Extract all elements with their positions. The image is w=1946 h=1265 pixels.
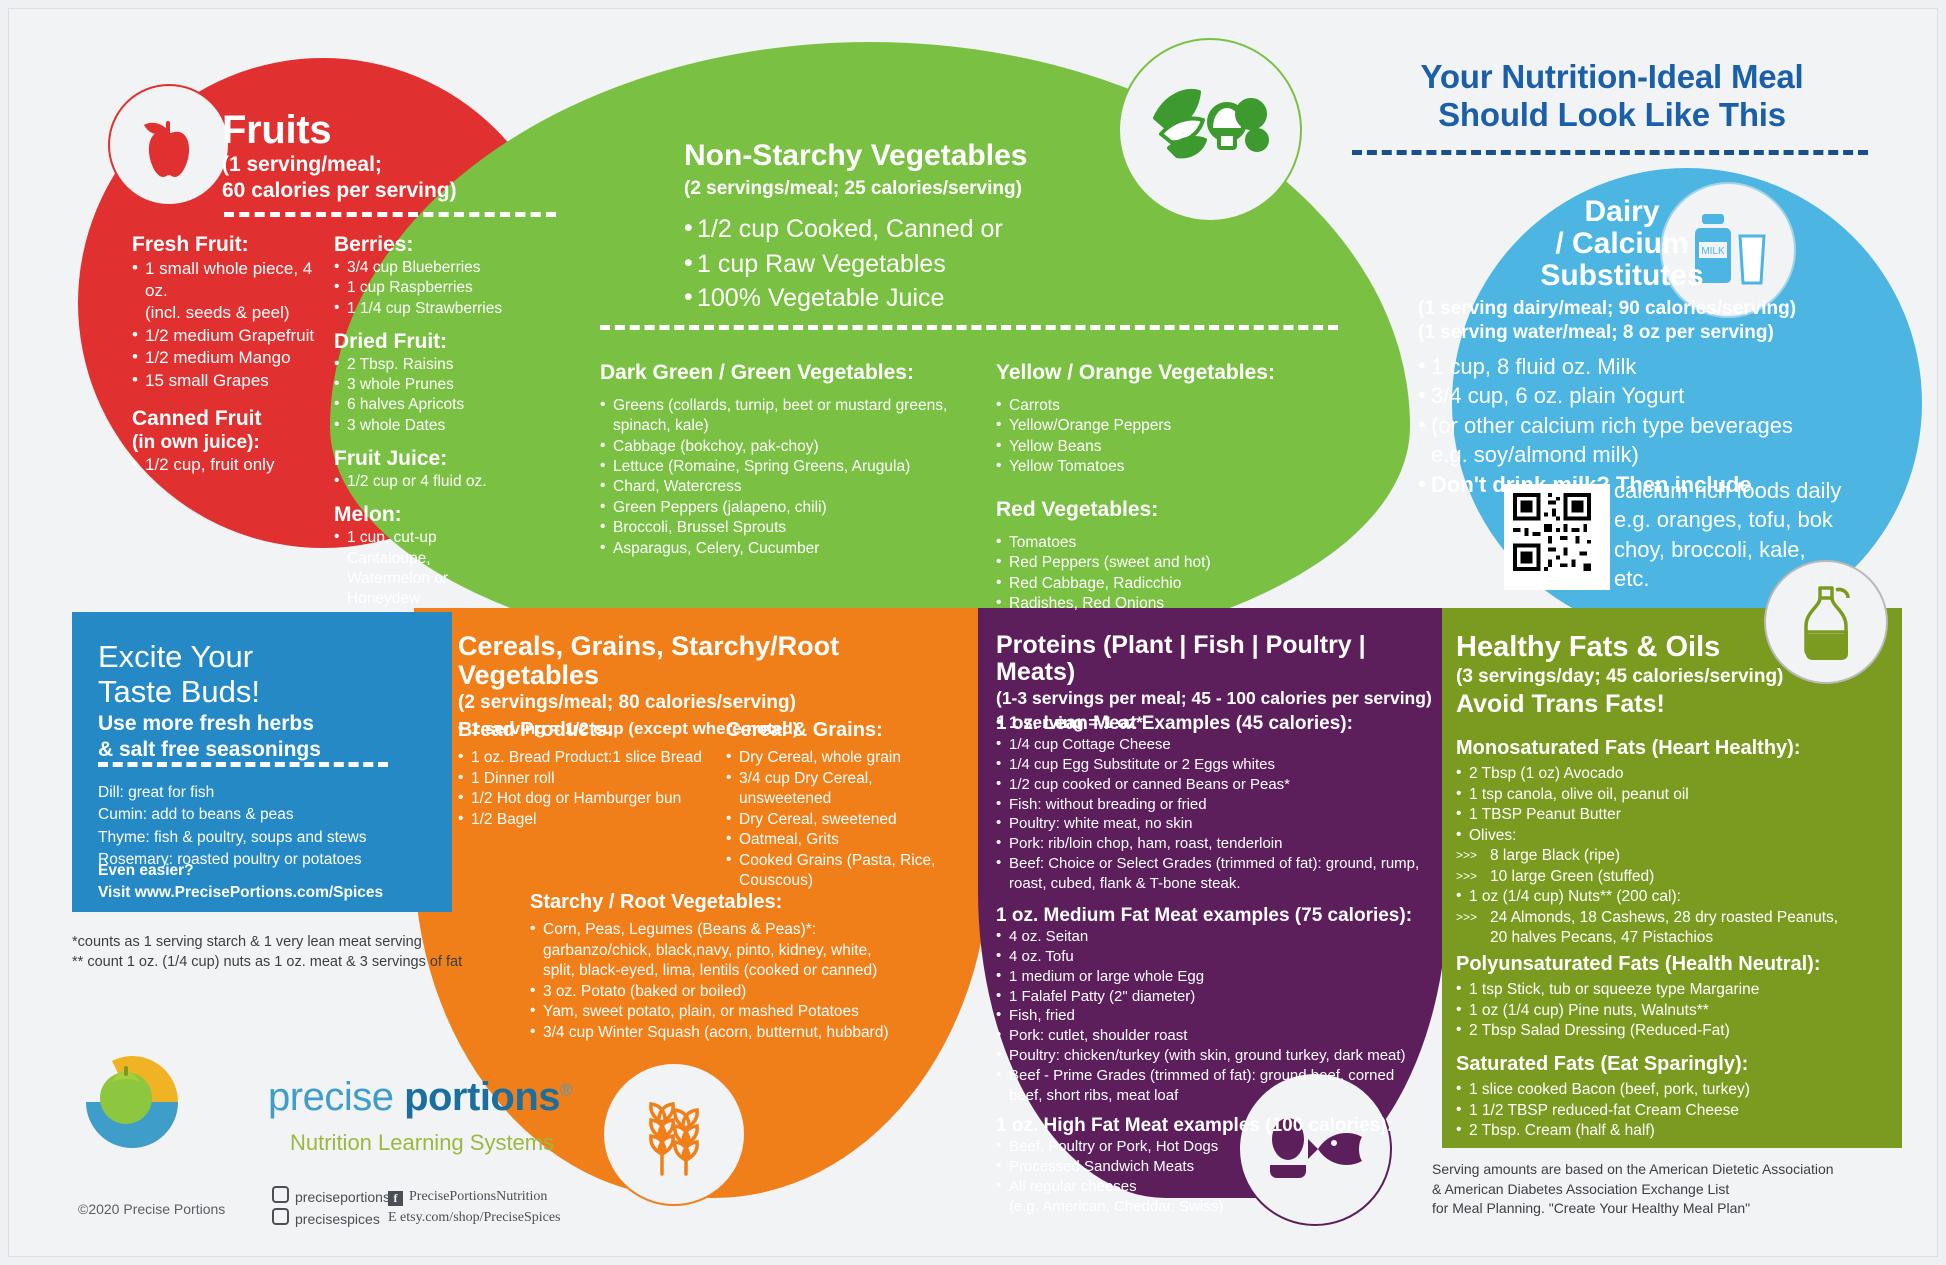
list-item: Fish: without breading or fried <box>996 795 1446 815</box>
dark-green-vegetables-block: Dark Green / Green Vegetables: Greens (c… <box>600 360 1000 559</box>
yellow-orange-vegetables-block: Yellow / Orange Vegetables: Carrots Yell… <box>996 360 1316 615</box>
dark-green-list: Greens (collards, turnip, beet or mustar… <box>600 396 1000 560</box>
list-item: Cooked Grains (Pasta, Rice, <box>726 851 966 871</box>
list-item: 2 Tbsp (1 oz) Avocado <box>1456 764 1896 784</box>
qr-code[interactable] <box>1504 484 1610 590</box>
canned-fruit-heading: Canned Fruit <box>132 406 332 432</box>
list-item: spinach, kale) <box>600 416 1000 436</box>
spices-block: Excite Your Taste Buds! Use more fresh h… <box>98 640 438 762</box>
list-item: 1 cup Raspberries <box>334 278 544 298</box>
list-item: Cumin: add to beans & peas <box>98 804 448 826</box>
list-item: 1/2 cup cooked or canned Beans or Peas* <box>996 775 1446 795</box>
red-vegetables-list: Tomatoes Red Peppers (sweet and hot) Red… <box>996 533 1316 615</box>
list-item: Thyme: fish & poultry, soups and stews <box>98 827 448 849</box>
fruits-divider <box>224 212 556 217</box>
bread-products-block: Bread Products: 1 oz. Bread Product:1 sl… <box>458 718 718 830</box>
list-item: Tomatoes <box>996 533 1316 553</box>
vegetables-serving-list: 1/2 cup Cooked, Canned or 1 cup Raw Vege… <box>684 212 1003 316</box>
fruit-juice-list: 1/2 cup or 4 fluid oz. <box>334 472 544 492</box>
list-item: Green Peppers (jalapeno, chili) <box>600 498 1000 518</box>
list-item: Yellow Beans <box>996 437 1316 457</box>
dairy-note-line2: (1 serving water/meal; 8 oz per serving) <box>1418 322 1774 344</box>
lean-meat-block: 1 oz. Lean Meat Examples (45 calories): … <box>996 712 1446 894</box>
list-item: 20 halves Pecans, 47 Pistachios <box>1456 928 1896 948</box>
berries-list: 3/4 cup Blueberries 1 cup Raspberries 1 … <box>334 258 544 319</box>
medium-fat-heading: 1 oz. Medium Fat Meat examples (75 calor… <box>996 904 1446 927</box>
list-item: 3/4 cup Blueberries <box>334 258 544 278</box>
fats-title: Healthy Fats & Oils <box>1456 632 1896 663</box>
page-title-line2: Should Look Like This <box>1352 96 1872 134</box>
list-item: 1 medium or large whole Egg <box>996 967 1446 987</box>
list-item: 1 1/2 TBSP reduced-fat Cream Cheese <box>1456 1101 1896 1121</box>
spices-title-line1: Excite Your <box>98 640 438 675</box>
brand-name-light: precise <box>268 1075 404 1119</box>
list-item: 1 cup Raw Vegetables <box>684 247 1003 282</box>
proteins-title: Proteins (Plant | Fish | Poultry | Meats… <box>996 632 1436 685</box>
grains-title: Cereals, Grains, Starchy/Root Vegetables <box>458 632 978 689</box>
list-item: Poultry: white meat, no skin <box>996 814 1446 834</box>
list-item: 1/4 cup Egg Substitute or 2 Eggs whites <box>996 755 1446 775</box>
vegetables-title: Non-Starchy Vegetables <box>684 140 1027 172</box>
bread-list: 1 oz. Bread Product:1 slice Bread 1 Dinn… <box>458 748 718 830</box>
list-item: unsweetened <box>726 789 966 809</box>
list-item: Corn, Peas, Legumes (Beans & Peas)*: <box>530 920 970 940</box>
list-item: 1/2 cup Cooked, Canned or <box>684 212 1003 247</box>
red-vegetables-heading: Red Vegetables: <box>996 497 1316 523</box>
list-item: 1 tsp canola, olive oil, peanut oil <box>1456 785 1896 805</box>
monosaturated-fats-block: Monosaturated Fats (Heart Healthy): 2 Tb… <box>1456 736 1896 948</box>
medium-fat-list: 4 oz. Seitan 4 oz. Tofu 1 medium or larg… <box>996 927 1446 1105</box>
list-item: 1/2 Bagel <box>458 810 718 830</box>
list-item: Dill: great for fish <box>98 782 448 804</box>
source-note-line1: Serving amounts are based on the America… <box>1432 1160 1912 1180</box>
header-divider <box>1352 150 1868 155</box>
list-item: Pork: rib/loin chop, ham, roast, tenderl… <box>996 834 1446 854</box>
list-item: 6 halves Apricots <box>334 395 544 415</box>
dairy-title-line3: Substitutes <box>1492 260 1752 292</box>
etsy-handle: E etsy.com/shop/PreciseSpices <box>388 1207 561 1228</box>
list-item: (or other calcium rich type beverages <box>1418 411 1888 440</box>
fruits-subtitle-line2: 60 calories per serving) <box>222 178 457 203</box>
list-item: Beef: Choice or Select Grades (trimmed o… <box>996 854 1446 874</box>
fruits-subtitle-line1: (1 serving/meal; <box>222 152 382 177</box>
polyunsaturated-fats-block: Polyunsaturated Fats (Health Neutral): 1… <box>1456 952 1896 1042</box>
list-item: garbanzo/chick, black,navy, pinto, kidne… <box>530 941 970 961</box>
list-item: 1 slice cooked Bacon (beef, pork, turkey… <box>1456 1080 1896 1100</box>
dairy-title-line2: / Calcium <box>1492 228 1752 260</box>
poly-list: 1 tsp Stick, tub or squeeze type Margari… <box>1456 980 1896 1041</box>
list-item: 3 whole Prunes <box>334 375 544 395</box>
dairy-note-line1: (1 serving dairy/meal; 90 calories/servi… <box>1418 298 1796 320</box>
list-item: Dry Cereal, sweetened <box>726 810 966 830</box>
vegetables-divider <box>600 325 1338 330</box>
list-item: 1/2 Hot dog or Hamburger bun <box>458 789 718 809</box>
list-item: 1/2 cup or 4 fluid oz. <box>334 472 544 492</box>
list-item: e.g. soy/almond milk) <box>1418 440 1888 469</box>
list-item: (incl. seeds & peel) <box>132 302 332 324</box>
brand-name-bold: portions <box>404 1075 560 1119</box>
list-item: 3 whole Dates <box>334 416 544 436</box>
list-item: Fish, fried <box>996 1006 1446 1026</box>
social-facebook-etsy[interactable]: fPrecisePortionsNutrition E etsy.com/sho… <box>388 1186 561 1228</box>
list-item: Broccoli, Brussel Sprouts <box>600 518 1000 538</box>
dairy-qr-line1: calcium rich foods daily <box>1614 476 1841 505</box>
spices-herb-list: Dill: great for fish Cumin: add to beans… <box>98 782 448 872</box>
spices-subtitle-line2: & salt free seasonings <box>98 737 438 762</box>
proteins-subtitle: (1-3 servings per meal; 45 - 100 calorie… <box>996 688 1436 709</box>
instagram-icon <box>272 1208 289 1225</box>
sat-heading: Saturated Fats (Eat Sparingly): <box>1456 1052 1896 1076</box>
list-item: 15 small Grapes <box>132 370 332 392</box>
list-item: Radishes, Red Onions <box>996 594 1316 614</box>
list-item: 1 oz (1/4 cup) Nuts** (200 cal): <box>1456 887 1896 907</box>
brand-name: precise portions® <box>268 1075 572 1120</box>
spices-title-line2: Taste Buds! <box>98 675 438 710</box>
list-item: Chard, Watercress <box>600 477 1000 497</box>
fruits-title: Fruits <box>222 110 331 152</box>
list-item: Beef - Prime Grades (trimmed of fat): gr… <box>996 1066 1446 1086</box>
apple-icon <box>108 84 230 206</box>
starchy-vegetables-block: Starchy / Root Vegetables: Corn, Peas, L… <box>530 890 970 1043</box>
dark-green-heading: Dark Green / Green Vegetables: <box>600 360 1000 386</box>
nutrition-poster: Your Nutrition-Ideal Meal Should Look Li… <box>0 0 1946 1265</box>
list-item: split, black-eyed, lima, lentils (cooked… <box>530 961 970 981</box>
yellow-orange-heading: Yellow / Orange Vegetables: <box>996 360 1316 386</box>
list-item: 1 oz. Bread Product:1 slice Bread <box>458 748 718 768</box>
list-item: 8 large Black (ripe) <box>1456 846 1896 866</box>
list-item: 3 oz. Potato (baked or boiled) <box>530 982 970 1002</box>
brand-tagline: Nutrition Learning Systems <box>290 1130 554 1156</box>
fruits-column-1: Fresh Fruit: 1 small whole piece, 4 oz. … <box>132 232 332 477</box>
list-item: Greens (collards, turnip, beet or mustar… <box>600 396 1000 416</box>
list-item: beef, short ribs, meat loaf <box>996 1086 1446 1106</box>
berries-heading: Berries: <box>334 232 544 258</box>
leafy-vegetables-icon <box>1118 38 1302 222</box>
list-item: 1 1/4 cup Strawberries <box>334 299 544 319</box>
list-item: (e.g. American, Cheddar, Swiss) <box>996 1197 1446 1217</box>
fresh-fruit-list: 1 small whole piece, 4 oz. (incl. seeds … <box>132 258 332 393</box>
list-item: Olives: <box>1456 826 1896 846</box>
list-item: Dry Cereal, whole grain <box>726 748 966 768</box>
list-item: Red Cabbage, Radicchio <box>996 574 1316 594</box>
instagram-handle-2: precisespices <box>295 1211 380 1227</box>
list-item: Yellow Tomatoes <box>996 457 1316 477</box>
list-item: Pork: cutlet, shoulder roast <box>996 1026 1446 1046</box>
canned-fruit-subheading: (in own juice): <box>132 432 332 454</box>
fruit-juice-heading: Fruit Juice: <box>334 446 544 472</box>
spices-cta-line1: Even easier? <box>98 860 448 882</box>
bread-heading: Bread Products: <box>458 718 718 742</box>
source-note-line3: for Meal Planning. "Create Your Healthy … <box>1432 1199 1912 1219</box>
list-item: 1 tsp Stick, tub or squeeze type Margari… <box>1456 980 1896 1000</box>
list-item: 4 oz. Tofu <box>996 947 1446 967</box>
list-item: 100% Vegetable Juice <box>684 281 1003 316</box>
fruits-column-2: Berries: 3/4 cup Blueberries 1 cup Raspb… <box>334 232 544 610</box>
canned-fruit-list: 1/2 cup, fruit only <box>132 454 332 476</box>
social-instagram[interactable]: preciseportions precisespices <box>272 1186 390 1230</box>
fats-warning: Avoid Trans Fats! <box>1456 691 1896 718</box>
mono-list: 2 Tbsp (1 oz) Avocado 1 tsp canola, oliv… <box>1456 764 1896 948</box>
list-item: 3/4 cup Winter Squash (acorn, butternut,… <box>530 1023 970 1043</box>
list-item: Couscous) <box>726 871 966 891</box>
list-item: 2 Tbsp. Raisins <box>334 355 544 375</box>
fats-header: Healthy Fats & Oils (3 servings/day; 45 … <box>1456 632 1896 718</box>
brand-registered: ® <box>560 1081 572 1100</box>
facebook-handle: PrecisePortionsNutrition <box>409 1189 547 1204</box>
sat-list: 1 slice cooked Bacon (beef, pork, turkey… <box>1456 1080 1896 1141</box>
list-item: 1/2 medium Mango <box>132 347 332 369</box>
copyright: ©2020 Precise Portions <box>78 1200 225 1219</box>
instagram-handle-1: preciseportions <box>295 1189 390 1205</box>
starchy-list: Corn, Peas, Legumes (Beans & Peas)*: gar… <box>530 920 970 1043</box>
list-item: Carrots <box>996 396 1316 416</box>
footnotes: *counts as 1 serving starch & 1 very lea… <box>72 932 492 973</box>
dairy-qr-line3: choy, broccoli, kale, <box>1614 535 1841 564</box>
list-item: 1 cup, cut-up <box>334 528 544 548</box>
list-item: Cantaloupe, <box>334 549 544 569</box>
list-item: Yellow/Orange Peppers <box>996 416 1316 436</box>
precise-portions-logo <box>78 1048 186 1156</box>
starchy-heading: Starchy / Root Vegetables: <box>530 890 970 914</box>
list-item: 1 small whole piece, 4 oz. <box>132 258 332 303</box>
spices-cta-line2[interactable]: Visit www.PrecisePortions.com/Spices <box>98 882 448 904</box>
list-item: 1/4 cup Cottage Cheese <box>996 735 1446 755</box>
list-item: 1 TBSP Peanut Butter <box>1456 805 1896 825</box>
grains-subtitle: (2 servings/meal; 80 calories/serving) <box>458 692 978 714</box>
list-item: Cabbage (bokchoy, pak-choy) <box>600 437 1000 457</box>
footnote-2: ** count 1 oz. (1/4 cup) nuts as 1 oz. m… <box>72 952 492 972</box>
list-item: 24 Almonds, 18 Cashews, 28 dry roasted P… <box>1456 908 1896 928</box>
list-item: Beef, Poultry or Pork, Hot Dogs <box>996 1137 1446 1157</box>
list-item: Processed Sandwich Meats <box>996 1157 1446 1177</box>
fats-subtitle: (3 servings/day; 45 calories/serving) <box>1456 666 1896 688</box>
spices-cta: Even easier? Visit www.PrecisePortions.c… <box>98 860 448 905</box>
spices-subtitle-line1: Use more fresh herbs <box>98 711 438 736</box>
cereal-heading: Cereal & Grains: <box>726 718 966 742</box>
wheat-icon <box>602 1062 746 1206</box>
list-item: 1 Falafel Patty (2" diameter) <box>996 987 1446 1007</box>
list-item: 2 Tbsp Salad Dressing (Reduced-Fat) <box>1456 1021 1896 1041</box>
high-fat-block: 1 oz. High Fat Meat examples (100 calori… <box>996 1114 1446 1216</box>
list-item: Lettuce (Romaine, Spring Greens, Arugula… <box>600 457 1000 477</box>
list-item: Red Peppers (sweet and hot) <box>996 553 1316 573</box>
list-item: Watermelon or <box>334 569 544 589</box>
spices-divider <box>98 762 388 767</box>
high-fat-heading: 1 oz. High Fat Meat examples (100 calori… <box>996 1114 1446 1137</box>
list-item: 1 oz (1/4 cup) Pine nuts, Walnuts** <box>1456 1001 1896 1021</box>
list-item: 1 cup, 8 fluid oz. Milk <box>1418 352 1888 381</box>
source-note: Serving amounts are based on the America… <box>1432 1160 1912 1219</box>
source-note-line2: & American Diabetes Association Exchange… <box>1432 1180 1912 1200</box>
melon-heading: Melon: <box>334 502 544 528</box>
list-item: Honeydew <box>334 589 544 609</box>
cereal-grains-block: Cereal & Grains: Dry Cereal, whole grain… <box>726 718 966 892</box>
list-item: Yam, sweet potato, plain, or mashed Pota… <box>530 1002 970 1022</box>
yellow-orange-list: Carrots Yellow/Orange Peppers Yellow Bea… <box>996 396 1316 478</box>
lean-meat-heading: 1 oz. Lean Meat Examples (45 calories): <box>996 712 1446 735</box>
list-item: 2 Tbsp. Cream (half & half) <box>1456 1121 1896 1141</box>
dried-fruit-heading: Dried Fruit: <box>334 329 544 355</box>
high-fat-list: Beef, Poultry or Pork, Hot Dogs Processe… <box>996 1137 1446 1216</box>
poly-heading: Polyunsaturated Fats (Health Neutral): <box>1456 952 1896 976</box>
page-title-line1: Your Nutrition-Ideal Meal <box>1352 58 1872 96</box>
melon-list: 1 cup, cut-up Cantaloupe, Watermelon or … <box>334 528 544 610</box>
mono-heading: Monosaturated Fats (Heart Healthy): <box>1456 736 1896 760</box>
vegetables-subtitle: (2 servings/meal; 25 calories/serving) <box>684 178 1022 200</box>
dried-fruit-list: 2 Tbsp. Raisins 3 whole Prunes 6 halves … <box>334 355 544 437</box>
list-item: 10 large Green (stuffed) <box>1456 867 1896 887</box>
list-item: Poultry: chicken/turkey (with skin, grou… <box>996 1046 1446 1066</box>
medium-fat-block: 1 oz. Medium Fat Meat examples (75 calor… <box>996 904 1446 1105</box>
list-item: All regular cheeses <box>996 1177 1446 1197</box>
page-title: Your Nutrition-Ideal Meal Should Look Li… <box>1352 58 1872 135</box>
lean-meat-list: 1/4 cup Cottage Cheese 1/4 cup Egg Subst… <box>996 735 1446 893</box>
list-item: Asparagus, Celery, Cucumber <box>600 539 1000 559</box>
list-item: Oatmeal, Grits <box>726 830 966 850</box>
list-item: 1/2 medium Grapefruit <box>132 325 332 347</box>
cereal-list: Dry Cereal, whole grain 3/4 cup Dry Cere… <box>726 748 966 891</box>
list-item: 1/2 cup, fruit only <box>132 454 332 476</box>
fresh-fruit-heading: Fresh Fruit: <box>132 232 332 258</box>
dairy-qr-line2: e.g. oranges, tofu, bok <box>1614 505 1841 534</box>
dairy-title-line1: Dairy <box>1492 196 1752 228</box>
saturated-fats-block: Saturated Fats (Eat Sparingly): 1 slice … <box>1456 1052 1896 1142</box>
instagram-icon <box>272 1186 289 1203</box>
footnote-1: *counts as 1 serving starch & 1 very lea… <box>72 932 492 952</box>
list-item: 4 oz. Seitan <box>996 927 1446 947</box>
list-item: 1 Dinner roll <box>458 769 718 789</box>
list-item: 3/4 cup Dry Cereal, <box>726 769 966 789</box>
list-item: 3/4 cup, 6 oz. plain Yogurt <box>1418 381 1888 410</box>
list-item: roast, cubed, flank & T-bone steak. <box>996 874 1446 894</box>
facebook-icon: f <box>388 1191 403 1206</box>
